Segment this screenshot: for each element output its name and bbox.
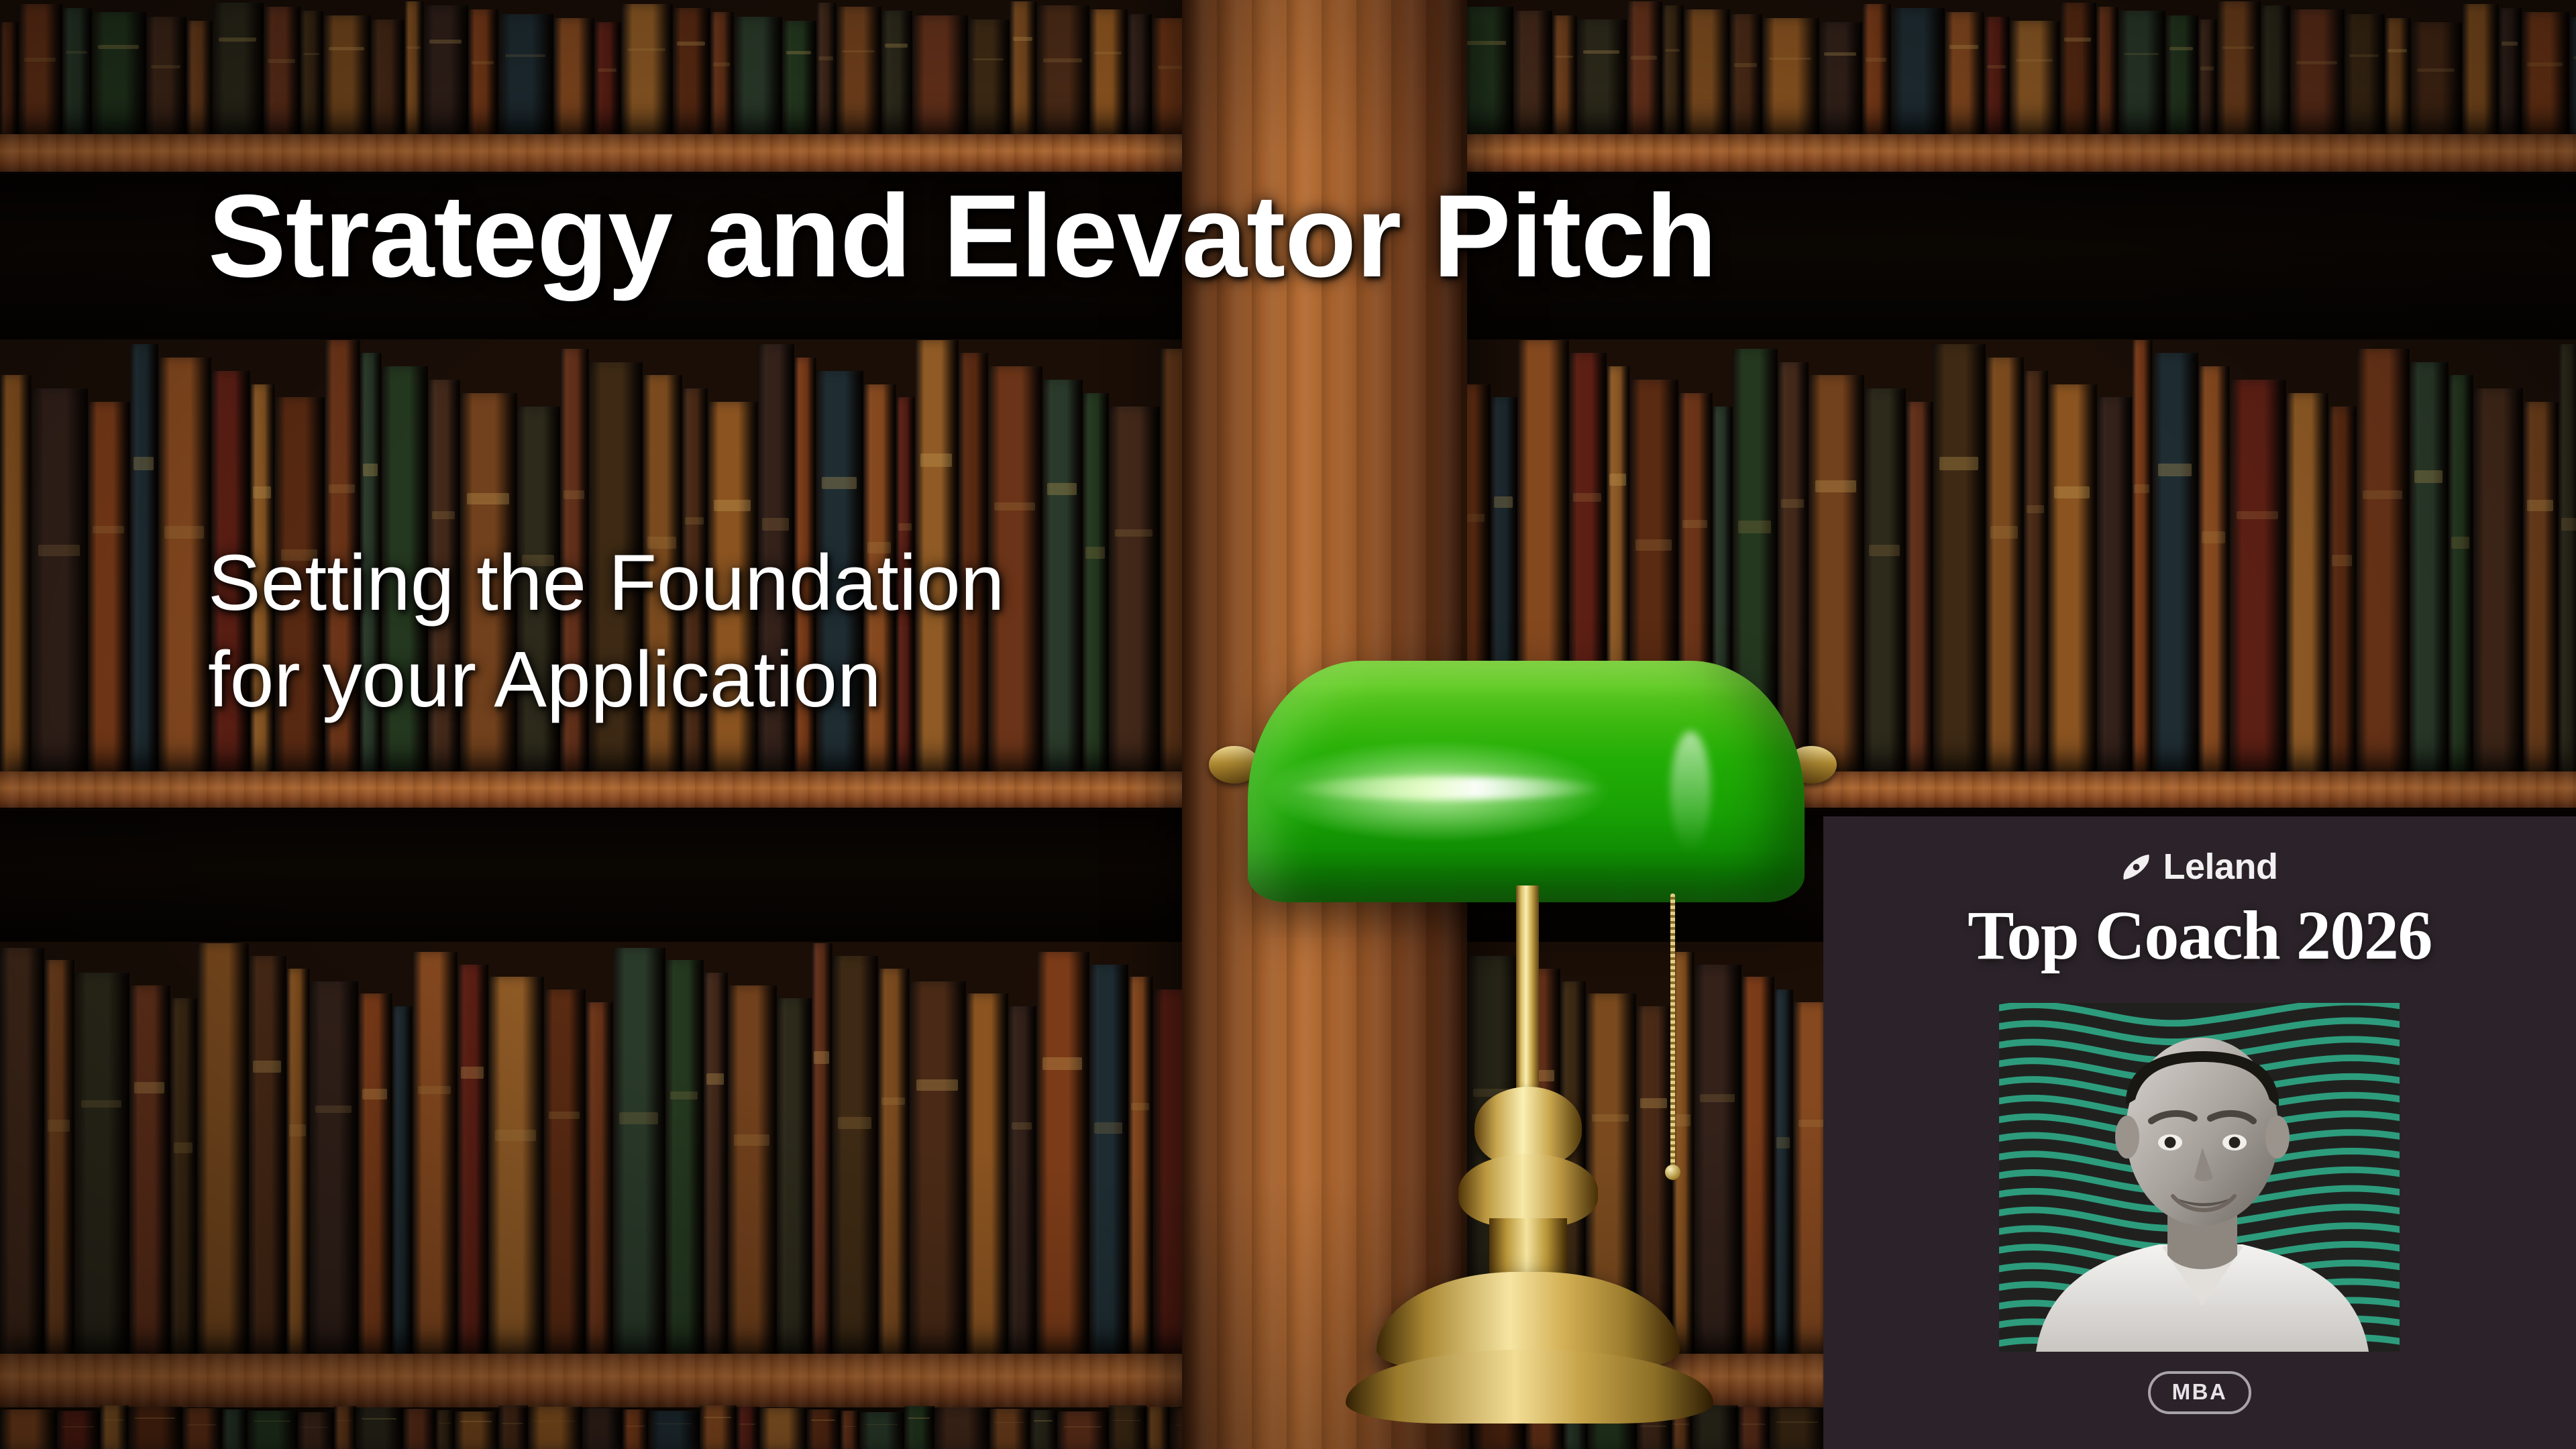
book-spine — [403, 1409, 436, 1449]
book-spine — [186, 21, 213, 138]
book-spine — [1010, 1, 1037, 138]
book-spine — [2048, 384, 2097, 778]
book-spine — [878, 969, 910, 1358]
book-spine — [621, 4, 673, 138]
book-spine — [129, 985, 170, 1358]
book-spine — [88, 402, 130, 778]
book-spine — [1128, 977, 1153, 1358]
book-spine — [649, 1411, 700, 1449]
bankers-lamp — [1201, 644, 1885, 1449]
book-spine — [934, 1407, 989, 1449]
book-spine — [197, 943, 249, 1358]
book-spine — [213, 3, 264, 138]
book-spine — [62, 8, 92, 138]
book-spine — [2096, 7, 2118, 138]
book-spine — [1819, 22, 1862, 138]
book-spine — [594, 22, 621, 138]
book-spine — [2286, 393, 2328, 778]
book-spine — [1730, 14, 1762, 138]
book-spine — [298, 1412, 334, 1449]
book-spine — [1008, 1006, 1036, 1358]
book-spine — [665, 960, 704, 1358]
book-spine — [248, 1411, 298, 1449]
book-spine — [100, 1405, 129, 1449]
book-spine — [1662, 5, 1684, 138]
book-spine — [1684, 9, 1730, 138]
book-spine — [57, 1411, 100, 1449]
book-spine — [544, 989, 586, 1358]
book-spine — [2559, 344, 2576, 778]
book-spine — [833, 956, 878, 1358]
book-spine — [989, 1409, 1030, 1449]
book-spine — [356, 1407, 403, 1449]
book-spine — [807, 1409, 841, 1449]
book-spine — [1984, 17, 2010, 138]
book-spine — [912, 15, 968, 138]
leland-diamond-logo-icon — [2121, 852, 2151, 882]
book-spine — [334, 1406, 356, 1449]
book-spine — [264, 7, 301, 138]
book-spine — [700, 1405, 737, 1449]
book-spine — [2410, 362, 2449, 778]
book-spine — [2411, 22, 2462, 138]
book-spine — [2261, 5, 2290, 138]
book-spine — [2345, 14, 2385, 138]
book-spine — [2328, 407, 2357, 778]
book-spine — [146, 17, 186, 138]
leland-brand-name: Leland — [2163, 846, 2277, 888]
book-spine — [2473, 388, 2523, 778]
book-spine — [759, 1408, 807, 1449]
book-spine — [458, 965, 488, 1359]
book-spine — [0, 375, 32, 778]
book-spine — [1036, 952, 1089, 1358]
book-spine — [966, 994, 1008, 1358]
book-spine — [904, 1406, 934, 1449]
book-spine — [1945, 12, 1984, 138]
book-spine — [1083, 393, 1109, 778]
lamp-pull-chain[interactable] — [1670, 894, 1675, 1169]
book-spine — [129, 1407, 182, 1449]
book-spine — [586, 1002, 613, 1358]
book-spine — [468, 9, 498, 138]
book-spine — [0, 1409, 57, 1449]
book-spine — [286, 969, 310, 1358]
coach-photo-frame — [1999, 1003, 2400, 1352]
book-spine — [2097, 397, 2132, 778]
book-spine — [816, 3, 837, 138]
slide-subtitle: Setting the Foundation for your Applicat… — [208, 535, 1004, 729]
book-spine — [32, 388, 88, 778]
book-spine — [19, 4, 62, 138]
book-spine — [358, 994, 392, 1358]
book-spine — [1030, 1410, 1057, 1449]
book-spine — [310, 981, 358, 1359]
book-spine — [1109, 1405, 1146, 1449]
book-spine — [1577, 19, 1627, 138]
book-spine — [2569, 17, 2576, 138]
book-spine — [2385, 18, 2411, 138]
credential-badge: MBA — [2148, 1371, 2251, 1414]
book-spine — [498, 1405, 528, 1449]
coach-portrait-avatar — [2012, 1016, 2387, 1352]
lamp-knob-lower — [1458, 1154, 1598, 1228]
lamp-shade-highlight — [1288, 777, 1603, 800]
book-spine — [2024, 371, 2048, 778]
book-spine — [413, 952, 458, 1358]
book-spine — [812, 943, 833, 1358]
book-spine — [737, 1407, 759, 1449]
leland-brand-lockup: Leland — [1823, 846, 2576, 888]
book-spine — [582, 1408, 623, 1449]
book-spine — [1762, 18, 1819, 138]
book-spine — [1627, 1, 1662, 138]
book-spine — [301, 11, 323, 138]
book-spine — [2230, 380, 2286, 778]
book-spine — [1146, 1407, 1170, 1449]
book-spine — [158, 358, 211, 778]
book-spine — [222, 1409, 248, 1449]
book-spine — [2198, 19, 2217, 138]
slide-title: Strategy and Elevator Pitch — [208, 176, 1717, 298]
book-spine — [249, 956, 286, 1358]
book-spine — [1042, 380, 1083, 778]
book-spine — [2462, 4, 2499, 138]
book-spine — [1460, 7, 1513, 138]
book-spine — [1986, 358, 2024, 778]
book-spine — [405, 1, 424, 138]
book-spine — [130, 344, 158, 778]
lamp-neck — [1489, 1218, 1567, 1279]
book-spine — [613, 948, 665, 1359]
book-spine — [837, 7, 881, 138]
book-spine — [2118, 11, 2165, 138]
lamp-shade-highlight-2 — [1670, 731, 1711, 852]
book-spine — [1109, 407, 1160, 778]
book-spine — [1862, 4, 1891, 138]
book-spine — [553, 18, 594, 138]
book-spine — [2010, 21, 2060, 138]
book-spine — [182, 1408, 222, 1449]
book-spine — [1513, 11, 1552, 138]
book-spine — [371, 19, 405, 138]
book-spine — [2522, 12, 2569, 138]
book-spine — [455, 1411, 498, 1449]
lamp-stem — [1516, 885, 1539, 1100]
leland-top-coach-card: Leland Top Coach 2026 — [1823, 816, 2576, 1449]
book-spine — [777, 998, 812, 1359]
book-spine — [1891, 8, 1945, 138]
book-spine — [623, 1409, 649, 1449]
book-spine — [528, 1407, 582, 1449]
book-spine — [2132, 340, 2153, 778]
book-spine — [1089, 9, 1128, 138]
book-spine — [1933, 344, 1986, 778]
book-spine — [860, 1412, 904, 1449]
book-spine — [488, 977, 544, 1358]
book-spine — [1057, 1411, 1109, 1449]
book-spine — [2499, 8, 2522, 138]
book-spine — [782, 21, 816, 138]
book-spine — [74, 973, 129, 1358]
book-spine — [2165, 15, 2198, 138]
book-spine — [424, 5, 468, 138]
book-spine — [841, 1411, 860, 1449]
book-spine — [910, 981, 966, 1359]
book-spine — [436, 1410, 455, 1449]
book-spine — [1128, 14, 1152, 138]
book-spine — [710, 12, 734, 138]
book-spine — [968, 19, 1010, 138]
book-spine — [673, 8, 710, 138]
book-spine — [2290, 9, 2345, 138]
presentation-slide: Strategy and Elevator Pitch Setting the … — [0, 0, 2576, 1449]
book-spine — [1906, 402, 1933, 778]
book-spine — [2060, 3, 2096, 138]
book-spine — [881, 11, 912, 138]
book-spine — [92, 12, 146, 138]
book-spine — [2449, 375, 2473, 778]
book-spine — [498, 14, 553, 138]
book-spine — [704, 973, 728, 1358]
book-spine — [1037, 5, 1089, 138]
book-spine — [2198, 366, 2230, 778]
book-spine — [323, 15, 371, 138]
book-spine — [2523, 402, 2559, 778]
lamp-pull-chain-ball[interactable] — [1665, 1165, 1680, 1180]
book-spine — [734, 17, 782, 138]
book-spine — [392, 1006, 413, 1358]
book-spine — [0, 22, 19, 138]
book-spine — [1089, 965, 1128, 1359]
book-spine — [1552, 15, 1577, 138]
book-spine — [0, 948, 44, 1359]
book-spine — [44, 960, 74, 1358]
top-coach-headline: Top Coach 2026 — [1823, 896, 2576, 975]
book-spine — [2217, 1, 2261, 138]
book-spine — [170, 998, 197, 1359]
book-spine — [2153, 353, 2198, 778]
book-spine — [728, 985, 777, 1358]
book-spine — [2357, 349, 2410, 778]
